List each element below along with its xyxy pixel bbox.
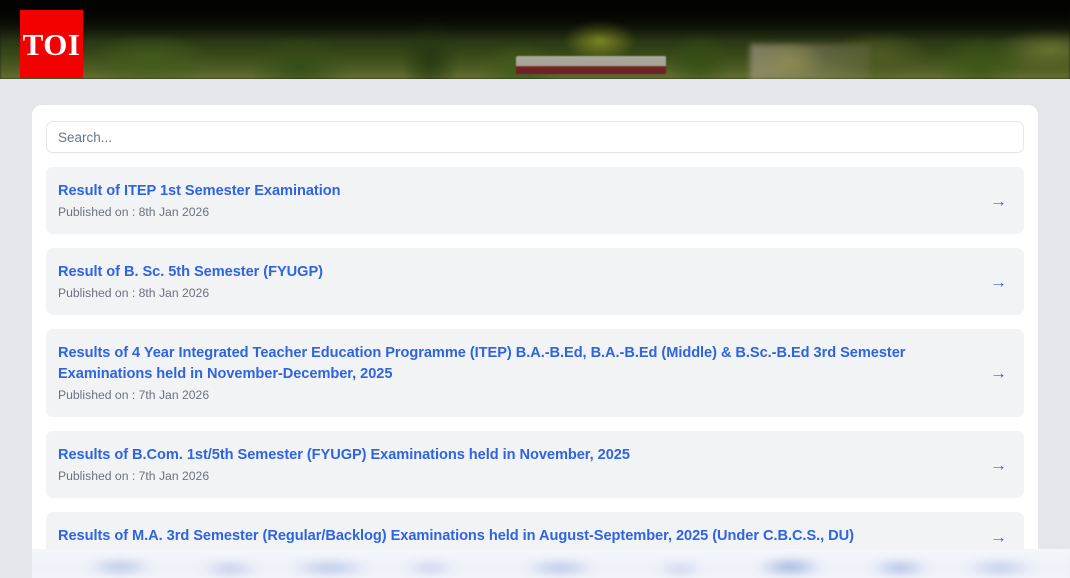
list-item[interactable]: Result of ITEP 1st Semester Examination … <box>46 167 1024 234</box>
search-input[interactable] <box>58 130 1012 145</box>
toi-logo[interactable]: TOI <box>20 10 83 78</box>
result-title: Result of B. Sc. 5th Semester (FYUGP) <box>58 262 972 283</box>
results-panel: Result of ITEP 1st Semester Examination … <box>32 105 1038 557</box>
list-item[interactable]: Results of B.Com. 1st/5th Semester (FYUG… <box>46 431 1024 498</box>
search-box[interactable] <box>46 121 1024 153</box>
site-header-banner: TOI <box>0 0 1070 79</box>
result-published-date: Published on : 7th Jan 2026 <box>58 468 972 485</box>
blurred-content <box>0 549 1070 578</box>
arrow-right-icon[interactable]: → <box>990 456 1007 473</box>
result-title: Result of ITEP 1st Semester Examination <box>58 181 972 202</box>
result-title: Results of 4 Year Integrated Teacher Edu… <box>58 343 972 385</box>
list-item[interactable]: Results of 4 Year Integrated Teacher Edu… <box>46 329 1024 417</box>
toi-logo-text: TOI <box>23 29 81 60</box>
list-item[interactable]: Result of B. Sc. 5th Semester (FYUGP) Pu… <box>46 248 1024 315</box>
arrow-right-icon[interactable]: → <box>990 529 1007 546</box>
result-published-date: Published on : 7th Jan 2026 <box>58 387 972 404</box>
result-title: Results of M.A. 3rd Semester (Regular/Ba… <box>58 526 972 547</box>
result-published-date: Published on : 8th Jan 2026 <box>58 285 972 302</box>
banner-dark-overlay <box>0 0 1070 79</box>
blurred-strip-left-margin <box>0 549 32 578</box>
arrow-right-icon[interactable]: → <box>990 273 1007 290</box>
result-title: Results of B.Com. 1st/5th Semester (FYUG… <box>58 445 972 466</box>
page-bottom-blurred-strip <box>0 549 1070 578</box>
result-published-date: Published on : 8th Jan 2026 <box>58 204 972 221</box>
arrow-right-icon[interactable]: → <box>990 365 1007 382</box>
results-list: Result of ITEP 1st Semester Examination … <box>46 167 1024 557</box>
arrow-right-icon[interactable]: → <box>990 192 1007 209</box>
